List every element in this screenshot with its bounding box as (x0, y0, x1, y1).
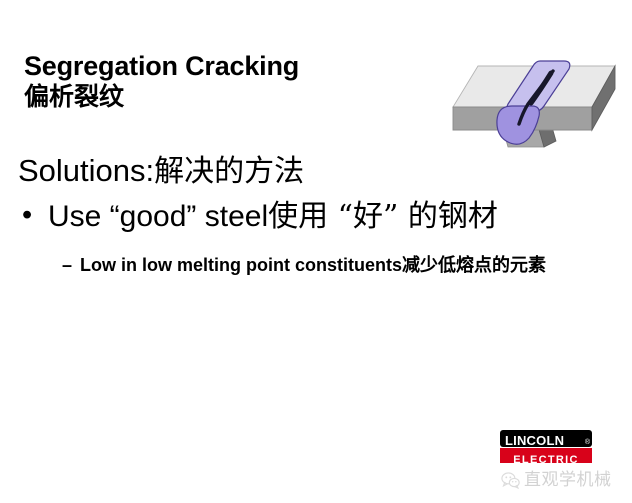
bullet-marker-icon: • (18, 197, 48, 235)
subbullet-text: Low in low melting point constituents减少低… (80, 252, 614, 279)
subbullet-item-low-melting-point: – Low in low melting point constituents减… (18, 252, 614, 279)
bullet-text-zh: 使用 “好” 的钢材 (268, 199, 498, 234)
weld-diagram-svg (440, 44, 632, 156)
wechat-icon (500, 470, 521, 491)
logo-electric-text: ELECTRIC (513, 454, 578, 466)
logo-lincoln-bar: LINCOLN ® (500, 430, 592, 447)
bullet-text: Use “good” steel使用 “好” 的钢材 (48, 197, 614, 236)
watermark-text: 直观学机械 (524, 471, 612, 490)
solutions-label-zh: 解决的方法 (154, 154, 304, 189)
lincoln-electric-logo: LINCOLN ® ELECTRIC (500, 430, 592, 463)
weld-diagram (440, 44, 632, 156)
bullet-text-en: Use “good” steel (48, 200, 268, 233)
title-chinese: 偏析裂纹 (24, 83, 444, 111)
subbullet-text-zh: 减少低熔点的元素 (402, 255, 546, 276)
slide-body: Solutions:解决的方法 • Use “good” steel使用 “好”… (18, 152, 614, 279)
bullet-item-use-good-steel: • Use “good” steel使用 “好” 的钢材 (18, 197, 614, 236)
wechat-icon-svg (500, 470, 521, 491)
slide-title: Segregation Cracking 偏析裂纹 (24, 52, 444, 111)
logo-lincoln-text: LINCOLN (505, 433, 564, 448)
logo-electric-bar: ELECTRIC (500, 448, 592, 463)
solutions-label-en: Solutions: (18, 153, 154, 188)
subbullet-text-en: Low in low melting point constituents (80, 255, 402, 275)
wechat-watermark: 直观学机械 (500, 470, 612, 491)
subbullet-dash-icon: – (62, 252, 80, 278)
registered-trademark-icon: ® (585, 439, 590, 446)
presentation-slide: Segregation Cracking 偏析裂纹 Solutions:解决的 (0, 0, 632, 503)
title-english: Segregation Cracking (24, 52, 444, 81)
solutions-line: Solutions:解决的方法 (18, 152, 614, 191)
